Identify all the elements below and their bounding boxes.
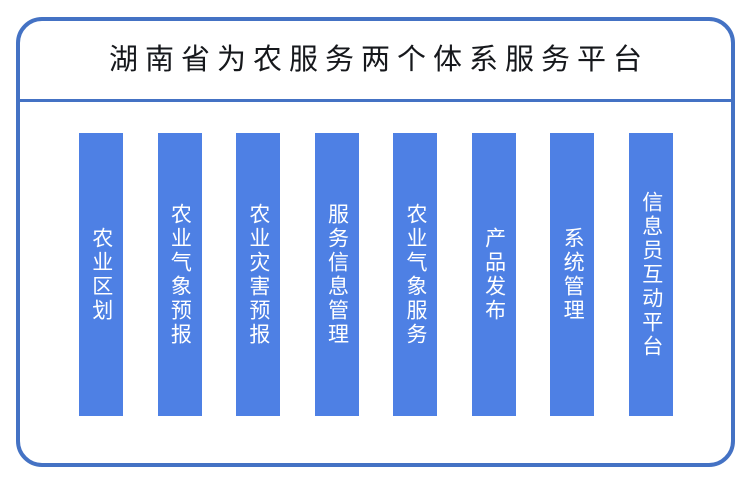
header-divider [18,99,733,102]
module-label: 服务信息管理 [325,203,349,347]
module-label: 农业气象服务 [403,203,427,347]
module-pillar-row: 农业区划 农业气象预报 农业灾害预报 服务信息管理 农业气象服务 产品发布 系统… [79,133,673,416]
module-pillar-agricultural-disaster-forecast[interactable]: 农业灾害预报 [236,133,280,416]
module-label: 农业区划 [89,227,113,323]
module-label: 农业气象预报 [168,203,192,347]
module-pillar-system-management[interactable]: 系统管理 [550,133,594,416]
module-pillar-agrometeorological-forecast[interactable]: 农业气象预报 [158,133,202,416]
module-label: 农业灾害预报 [246,203,270,347]
module-label: 信息员互动平台 [639,191,663,359]
module-pillar-information-officer-interaction-platform[interactable]: 信息员互动平台 [629,133,673,416]
module-label: 产品发布 [482,227,506,323]
module-pillar-product-release[interactable]: 产品发布 [472,133,516,416]
page-title: 湖南省为农服务两个体系服务平台 [102,46,649,75]
platform-header: 湖南省为农服务两个体系服务平台 [20,21,731,100]
module-pillar-agrometeorological-service[interactable]: 农业气象服务 [393,133,437,416]
module-pillar-agricultural-zoning[interactable]: 农业区划 [79,133,123,416]
module-pillar-service-information-management[interactable]: 服务信息管理 [315,133,359,416]
module-label: 系统管理 [561,227,585,323]
diagram-canvas: 湖南省为农服务两个体系服务平台 农业区划 农业气象预报 农业灾害预报 服务信息管… [0,0,752,484]
